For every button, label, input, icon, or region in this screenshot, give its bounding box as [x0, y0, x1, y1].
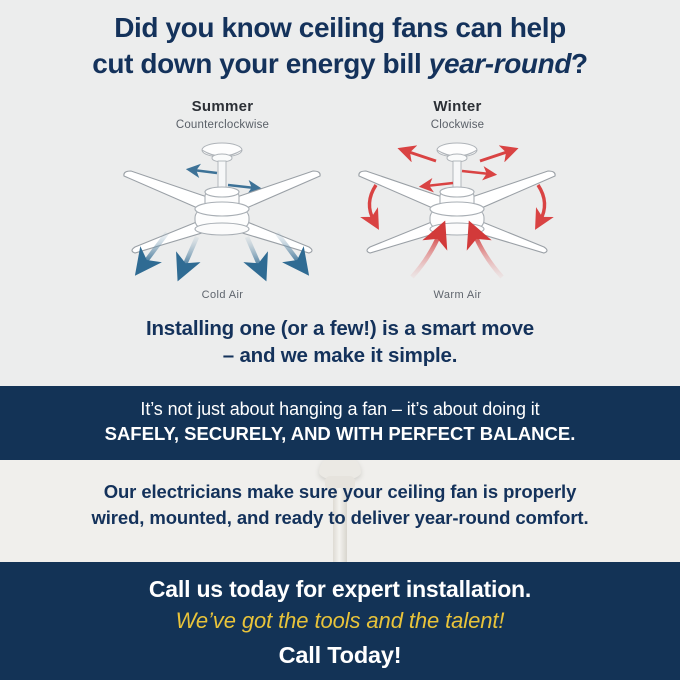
- cta-line-2: We’ve got the tools and the talent!: [0, 608, 680, 634]
- promo-graphic: Did you know ceiling fans can help cut d…: [0, 0, 680, 680]
- cta-line-1: Call us today for expert installation.: [0, 576, 680, 603]
- cta-call-today[interactable]: Call Today!: [0, 642, 680, 669]
- safety-band-line-1: It’s not just about hanging a fan – it’s…: [0, 397, 680, 421]
- page-title: Did you know ceiling fans can help cut d…: [0, 0, 680, 82]
- subheadline-line-2: – and we make it simple.: [30, 342, 650, 369]
- season-summer: Summer Counterclockwise: [105, 98, 340, 301]
- headline-emphasis: year-round: [429, 48, 571, 79]
- subheadline-line-1: Installing one (or a few!) is a smart mo…: [30, 315, 650, 342]
- cta-band: Call us today for expert installation. W…: [0, 562, 680, 680]
- headline-line-2-prefix: cut down your energy bill: [92, 48, 429, 79]
- air-label-cold: Cold Air: [105, 289, 340, 301]
- season-winter: Winter Clockwise: [340, 98, 575, 301]
- electricians-line-2: wired, mounted, and ready to deliver yea…: [22, 505, 658, 531]
- electricians-line-1: Our electricians make sure your ceiling …: [22, 479, 658, 505]
- seasons-row: Summer Counterclockwise: [0, 98, 680, 301]
- headline-line-1: Did you know ceiling fans can help: [28, 10, 652, 46]
- air-label-warm: Warm Air: [340, 289, 575, 301]
- season-title-winter: Winter: [340, 98, 575, 115]
- safety-band-line-2: SAFELY, SECURELY, AND WITH PERFECT BALAN…: [0, 421, 680, 447]
- ceiling-fan-summer-icon: [105, 137, 340, 287]
- subheadline: Installing one (or a few!) is a smart mo…: [0, 315, 680, 369]
- season-direction-winter: Clockwise: [340, 119, 575, 131]
- electricians-section: Our electricians make sure your ceiling …: [0, 460, 680, 562]
- electricians-text: Our electricians make sure your ceiling …: [0, 460, 680, 531]
- season-direction-summer: Counterclockwise: [105, 119, 340, 131]
- headline-line-2: cut down your energy bill year-round?: [28, 46, 652, 82]
- headline-line-2-suffix: ?: [571, 48, 588, 79]
- safety-band: It’s not just about hanging a fan – it’s…: [0, 386, 680, 460]
- season-title-summer: Summer: [105, 98, 340, 115]
- ceiling-fan-winter-icon: [340, 137, 575, 287]
